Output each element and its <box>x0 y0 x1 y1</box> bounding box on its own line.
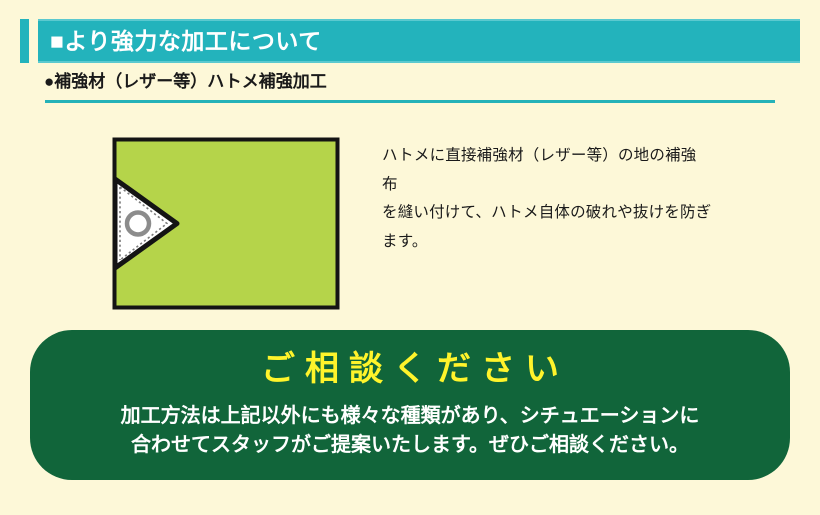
section-header-title: ■より強力な加工について <box>38 30 322 53</box>
description-text: ハトメに直接補強材（レザー等）の地の補強布 を縫い付けて、ハトメ自体の破れや抜け… <box>382 142 712 257</box>
cta-body: 加工方法は上記以外にも様々な種類があり、シチュエーションに 合わせてスタッフがご… <box>121 402 700 460</box>
page-root: ■より強力な加工について ●補強材（レザー等）ハトメ補強加工 ハトメに直接補強材… <box>0 0 820 515</box>
subsection-heading: ●補強材（レザー等）ハトメ補強加工 <box>44 72 327 92</box>
eyelet-ring <box>127 213 149 235</box>
cta-body-line-2: 合わせてスタッフがご提案いたします。ぜひご相談ください。 <box>121 431 700 460</box>
description-line-2: を縫い付けて、ハトメ自体の破れや抜けを防ぎ <box>382 199 712 228</box>
fabric-diagram-icon <box>112 137 340 310</box>
header-accent-bar <box>20 19 29 63</box>
description-line-3: ます。 <box>382 228 712 257</box>
header-bar: ■より強力な加工について <box>38 19 800 63</box>
cta-title: ご相談ください <box>251 352 569 386</box>
section-header: ■より強力な加工について <box>20 19 800 63</box>
eyelet-reinforcement-illustration <box>112 137 340 310</box>
cta-body-line-1: 加工方法は上記以外にも様々な種類があり、シチュエーションに <box>121 402 700 431</box>
description-line-1: ハトメに直接補強材（レザー等）の地の補強布 <box>382 142 712 199</box>
subsection-divider <box>45 100 775 103</box>
consultation-cta-panel: ご相談ください 加工方法は上記以外にも様々な種類があり、シチュエーションに 合わ… <box>30 330 790 480</box>
